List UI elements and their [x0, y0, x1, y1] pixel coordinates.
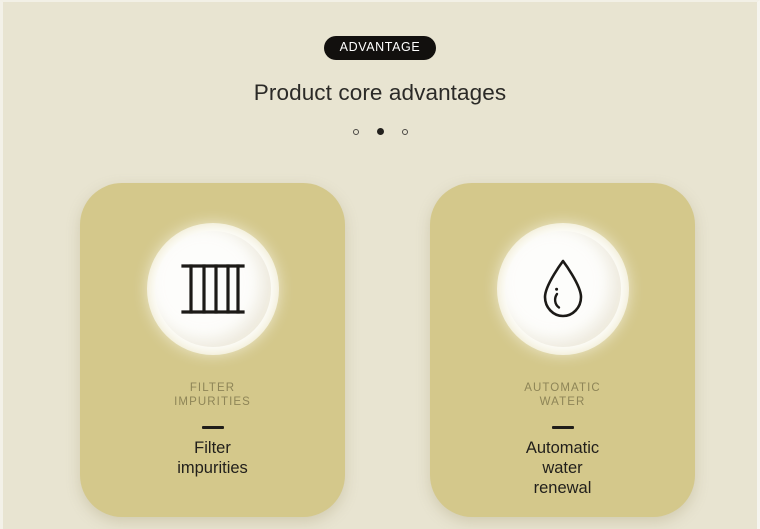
- badge-row: ADVANTAGE: [3, 35, 757, 61]
- card-title: Filter impurities: [80, 438, 345, 478]
- card-text-block: FILTER IMPURITIES Filter impurities: [80, 381, 345, 478]
- text-divider: [202, 426, 224, 429]
- card-text-block: AUTOMATIC WATER Automatic water renewal: [430, 381, 695, 498]
- card-subtitle: FILTER IMPURITIES: [80, 381, 345, 409]
- card-title: Automatic water renewal: [430, 438, 695, 498]
- card-title-line2: water: [430, 458, 695, 478]
- advantage-card-automatic-water-renewal[interactable]: AUTOMATIC WATER Automatic water renewal: [430, 183, 695, 517]
- card-subtitle-line1: FILTER: [80, 381, 345, 395]
- card-subtitle-line2: WATER: [430, 395, 695, 409]
- text-divider: [552, 426, 574, 429]
- icon-circle: [505, 231, 621, 347]
- card-title-line2: impurities: [80, 458, 345, 478]
- advantage-card-list: FILTER IMPURITIES Filter impurities: [3, 183, 757, 529]
- advantage-card-filter-impurities[interactable]: FILTER IMPURITIES Filter impurities: [80, 183, 345, 517]
- advantage-badge: ADVANTAGE: [324, 36, 437, 60]
- card-subtitle-line1: AUTOMATIC: [430, 381, 695, 395]
- section-header: ADVANTAGE Product core advantages: [3, 2, 757, 137]
- icon-badge-filter: [147, 223, 279, 355]
- icon-circle: [155, 231, 271, 347]
- advantage-page: ADVANTAGE Product core advantages: [0, 0, 760, 529]
- card-title-line3: renewal: [430, 478, 695, 498]
- pagination-dots[interactable]: [3, 127, 757, 137]
- pagination-dot-1[interactable]: [353, 129, 359, 135]
- card-title-line1: Automatic: [430, 438, 695, 458]
- icon-badge-water: [497, 223, 629, 355]
- card-title-line1: Filter: [80, 438, 345, 458]
- card-subtitle-line2: IMPURITIES: [80, 395, 345, 409]
- pagination-dot-3[interactable]: [402, 129, 408, 135]
- card-subtitle: AUTOMATIC WATER: [430, 381, 695, 409]
- filter-grate-icon: [180, 260, 246, 318]
- page-title: Product core advantages: [3, 82, 757, 105]
- pagination-dot-2-active[interactable]: [377, 128, 384, 135]
- water-drop-icon: [537, 256, 589, 322]
